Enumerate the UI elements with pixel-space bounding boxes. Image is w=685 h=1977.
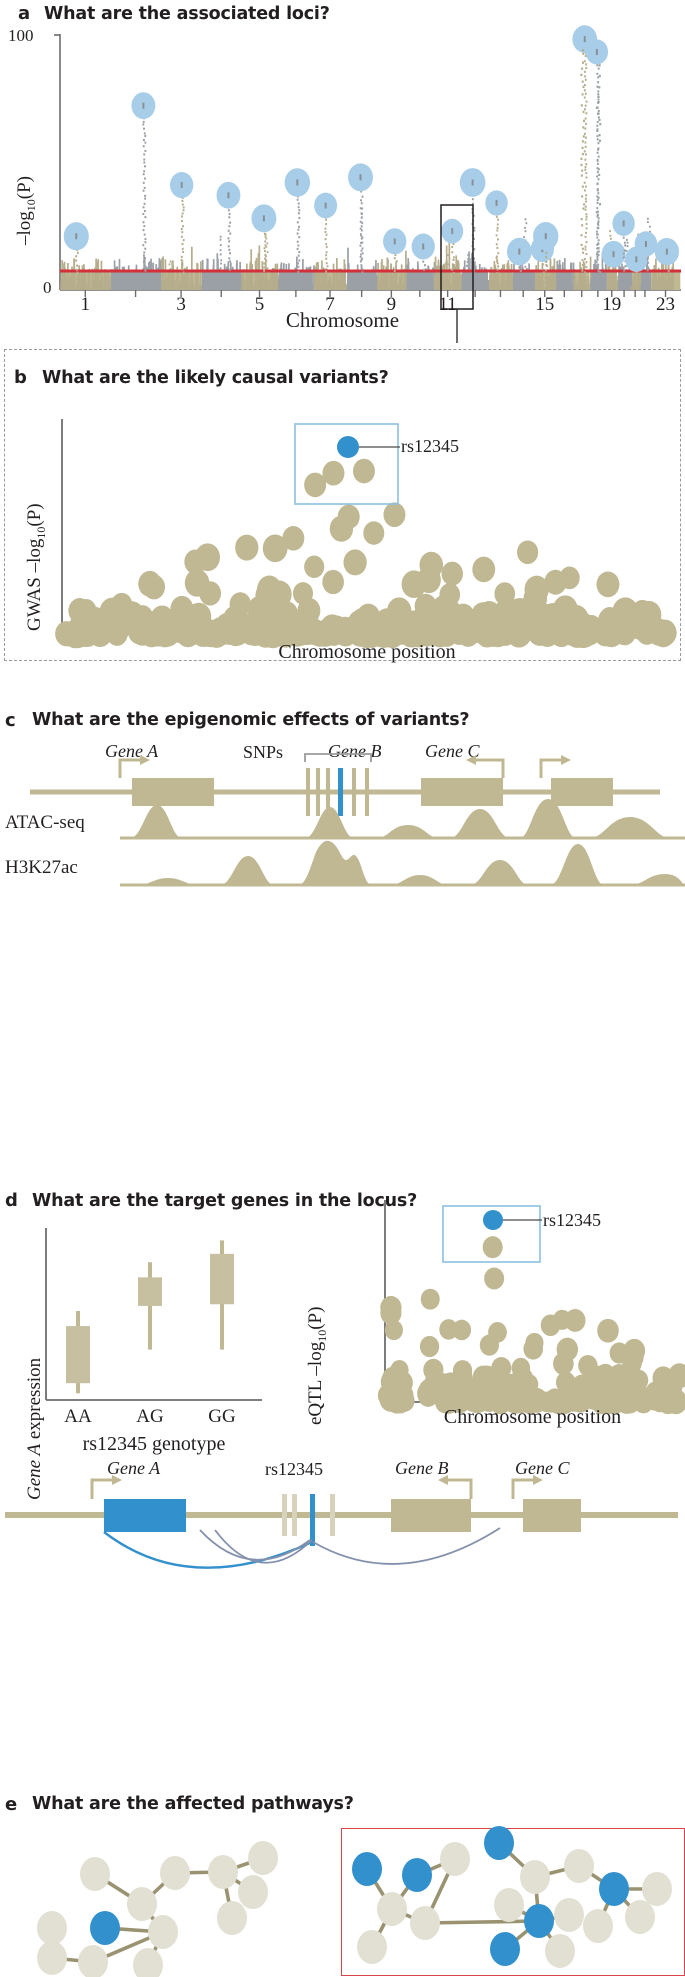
locus-snp-ticks [282, 1494, 335, 1546]
variant-point [111, 593, 132, 617]
variant-point [383, 502, 405, 527]
variant-point [483, 1236, 503, 1258]
variant-point [230, 592, 251, 616]
node [564, 1849, 594, 1883]
locus-gene-c-label: Gene C [515, 1458, 569, 1479]
unenriched-pathway-network[interactable] [5, 1830, 300, 1977]
node [642, 1872, 672, 1906]
variant-point [442, 562, 463, 586]
node [520, 1860, 550, 1894]
variant-point [552, 599, 576, 626]
panel-d-label: d [5, 1190, 18, 1211]
gene-b-body [391, 1475, 471, 1532]
locuszoom-eqtl-plot[interactable] [335, 1200, 685, 1430]
variant-point [322, 570, 344, 594]
variant-point [420, 1336, 439, 1357]
variant-point [491, 1357, 511, 1379]
node [217, 1901, 247, 1935]
node-highlighted [90, 1911, 120, 1945]
enriched-network-box[interactable] [341, 1828, 685, 1976]
node-highlighted [484, 1826, 514, 1860]
variant-point [304, 556, 324, 578]
variant-point [494, 582, 515, 605]
boxplot-category-AG: AG [132, 1406, 168, 1428]
node [357, 1930, 387, 1964]
lead-snp-tick [310, 1494, 315, 1546]
node [133, 1948, 163, 1977]
enriched-pathway-network[interactable] [342, 1829, 682, 1974]
panel-c-title: What are the epigenomic effects of varia… [32, 710, 469, 730]
h3k27ac-track-label: H3K27ac [5, 857, 78, 879]
node [440, 1842, 470, 1876]
panel-e-title: What are the affected pathways? [32, 1794, 354, 1814]
variant-point [293, 582, 313, 605]
gene-a-expression-boxplot[interactable] [0, 1228, 290, 1428]
node [238, 1875, 268, 1909]
network-nodes[interactable] [352, 1826, 672, 1968]
node [545, 1934, 575, 1968]
network-nodes[interactable] [37, 1841, 278, 1977]
node [377, 1892, 407, 1926]
variant-point [387, 597, 411, 624]
atac-seq-track [120, 795, 685, 843]
node [37, 1911, 67, 1945]
eqtl-y-label-prefix: eQTL –log [305, 1342, 326, 1425]
variant-point [597, 1319, 619, 1343]
variant-point [380, 1297, 401, 1320]
variant-point [353, 459, 375, 484]
boxplot-category-GG: GG [204, 1406, 240, 1428]
boxplot-box[interactable] [66, 1326, 90, 1383]
node-highlighted [402, 1858, 432, 1892]
panel-a-x-axis-label: Chromosome [0, 308, 685, 333]
variant-point [415, 594, 437, 619]
variant-point [578, 1355, 597, 1376]
node-highlighted [352, 1852, 382, 1886]
variant-point [282, 526, 304, 551]
panel-b-x-axis-label: Chromosome position [62, 641, 672, 664]
variant-point [343, 549, 366, 575]
node [248, 1841, 278, 1875]
locus-gene-b-label: Gene B [395, 1458, 448, 1479]
boxplot-category-AA: AA [60, 1406, 96, 1428]
variant-point [363, 521, 384, 545]
arc-enhancer-2 [215, 1530, 312, 1563]
boxplot-x-axis-label: rs12345 genotype [46, 1433, 262, 1456]
gene-a-body-highlighted [92, 1475, 186, 1532]
variant-point [421, 1289, 440, 1310]
node [625, 1900, 655, 1934]
panel-b-lead-snp-label: rs12345 [401, 436, 459, 457]
variant-point [616, 609, 638, 634]
gene-b-label: Gene B [328, 741, 381, 762]
panel-a: a What are the associated loci? –log10(P… [0, 0, 685, 340]
arc-lead-snp-gene-c [313, 1528, 500, 1564]
locus-gene-a-label: Gene A [107, 1458, 160, 1479]
variant-point [382, 1367, 402, 1389]
variant-point [484, 1268, 504, 1290]
node [160, 1856, 190, 1890]
locus-gene-track-with-interactions [0, 1480, 685, 1615]
node [148, 1915, 178, 1949]
panel-c-label: c [5, 710, 16, 731]
variant-point [596, 572, 619, 598]
node-highlighted [524, 1904, 554, 1938]
node-highlighted [490, 1932, 520, 1966]
manhattan-plot[interactable] [0, 0, 685, 340]
node [127, 1887, 157, 1921]
variant-point [184, 549, 206, 574]
panel-e: e What are the affected pathways? [0, 1790, 685, 1977]
node [494, 1888, 524, 1922]
eqtl-y-axis-label: eQTL –log10(P) [305, 1307, 330, 1425]
variant-point [402, 570, 427, 598]
variant-point [523, 1338, 543, 1360]
boxplot-boxes[interactable] [66, 1240, 234, 1393]
variant-point [186, 603, 211, 631]
variant-point [479, 602, 503, 629]
node [78, 1945, 108, 1977]
locus-snp-label: rs12345 [265, 1459, 323, 1480]
variant-point [556, 1372, 576, 1394]
eqtl-variant-points [378, 1236, 685, 1414]
variant-point [605, 1371, 624, 1392]
lead-variant-marker[interactable] [337, 436, 359, 458]
boxplot-box[interactable] [210, 1254, 234, 1304]
variant-point [235, 535, 258, 561]
variant-point [199, 581, 221, 605]
snps-bracket-label: SNPs [243, 742, 283, 763]
variant-point [553, 1310, 571, 1330]
node [554, 1898, 584, 1932]
panel-c: c What are the epigenomic effects of var… [0, 690, 685, 890]
variant-point [512, 1358, 530, 1378]
node-highlighted [599, 1872, 629, 1906]
boxplot-box[interactable] [138, 1277, 162, 1306]
variant-point [385, 1320, 403, 1340]
variant-point [276, 601, 298, 625]
node [37, 1941, 67, 1975]
locuszoom-gwas-plot[interactable] [0, 349, 685, 661]
variant-point [472, 557, 495, 583]
variant-point [480, 1335, 499, 1356]
node [583, 1909, 613, 1943]
variant-point [143, 575, 165, 600]
atac-seq-track-label: ATAC-seq [5, 812, 85, 834]
interaction-arcs [104, 1528, 500, 1568]
eqtl-y-label-suffix: (P) [305, 1307, 326, 1330]
eqtl-x-axis-label: Chromosome position [385, 1406, 680, 1429]
eqtl-lead-snp-label: rs12345 [543, 1210, 601, 1231]
variant-point [523, 585, 547, 612]
variant-point [439, 583, 460, 606]
gwas-variant-points [55, 459, 677, 649]
variant-point [439, 1319, 458, 1340]
eqtl-y-label-sub: 10 [315, 1330, 329, 1342]
h3k27ac-track [120, 842, 685, 890]
node [208, 1855, 238, 1889]
gene-c-body [513, 1475, 581, 1532]
variant-point [645, 1381, 667, 1405]
variant-point [453, 1360, 472, 1381]
variant-point [544, 570, 566, 595]
node [80, 1857, 110, 1891]
variant-point [423, 1359, 443, 1381]
variant-point [625, 1348, 643, 1368]
variant-point [338, 505, 360, 530]
variant-point [322, 461, 344, 486]
variant-point [517, 540, 538, 564]
panel-e-label: e [5, 1794, 17, 1815]
variant-point [553, 1352, 574, 1375]
annotated-peak-halos[interactable] [64, 25, 679, 284]
panel-d: d What are the target genes in the locus… [0, 1180, 685, 1810]
panel-b: b What are the likely causal variants? G… [0, 349, 685, 661]
eqtl-lead-variant-marker[interactable] [483, 1210, 503, 1230]
node [410, 1906, 440, 1940]
